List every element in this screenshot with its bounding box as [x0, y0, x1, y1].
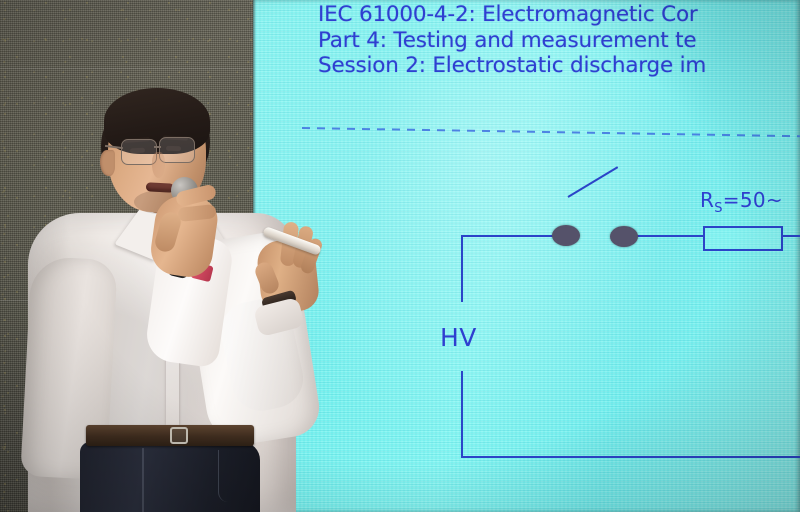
circuit-wire-left-lower [461, 371, 463, 457]
circuit-wire-left-upper [461, 235, 463, 302]
hv-source-label: HV [440, 323, 477, 352]
resistor-label-sub: S [714, 201, 723, 216]
switch-node-right [610, 226, 638, 247]
circuit-wire-after-resistor [782, 235, 800, 237]
trouser-pocket [218, 450, 251, 502]
presenter-figure [0, 0, 340, 512]
resistor-symbol [703, 226, 783, 251]
slide-title-line-3: Session 2: Electrostatic discharge im [318, 53, 800, 79]
trouser-crease [142, 448, 144, 512]
resistor-label-r: R [700, 188, 714, 212]
slide-title-line-1: IEC 61000-4-2: Electromagnetic Cor [318, 2, 800, 28]
circuit-wire-to-resistor [634, 235, 704, 237]
switch-node-left [552, 225, 580, 246]
presenter-ear [100, 150, 115, 176]
slide-title-block: IEC 61000-4-2: Electromagnetic Cor Part … [318, 2, 800, 79]
presenter-nose [152, 152, 165, 178]
belt-buckle [170, 427, 188, 444]
slide-title-line-2: Part 4: Testing and measurement te [318, 28, 800, 54]
resistor-label: RS=50~ [700, 188, 783, 216]
screenshot-stage: IEC 61000-4-2: Electromagnetic Cor Part … [0, 0, 800, 512]
circuit-wire-bottom [461, 456, 800, 458]
glasses-bridge [154, 146, 161, 148]
resistor-label-value: =50~ [723, 188, 783, 212]
